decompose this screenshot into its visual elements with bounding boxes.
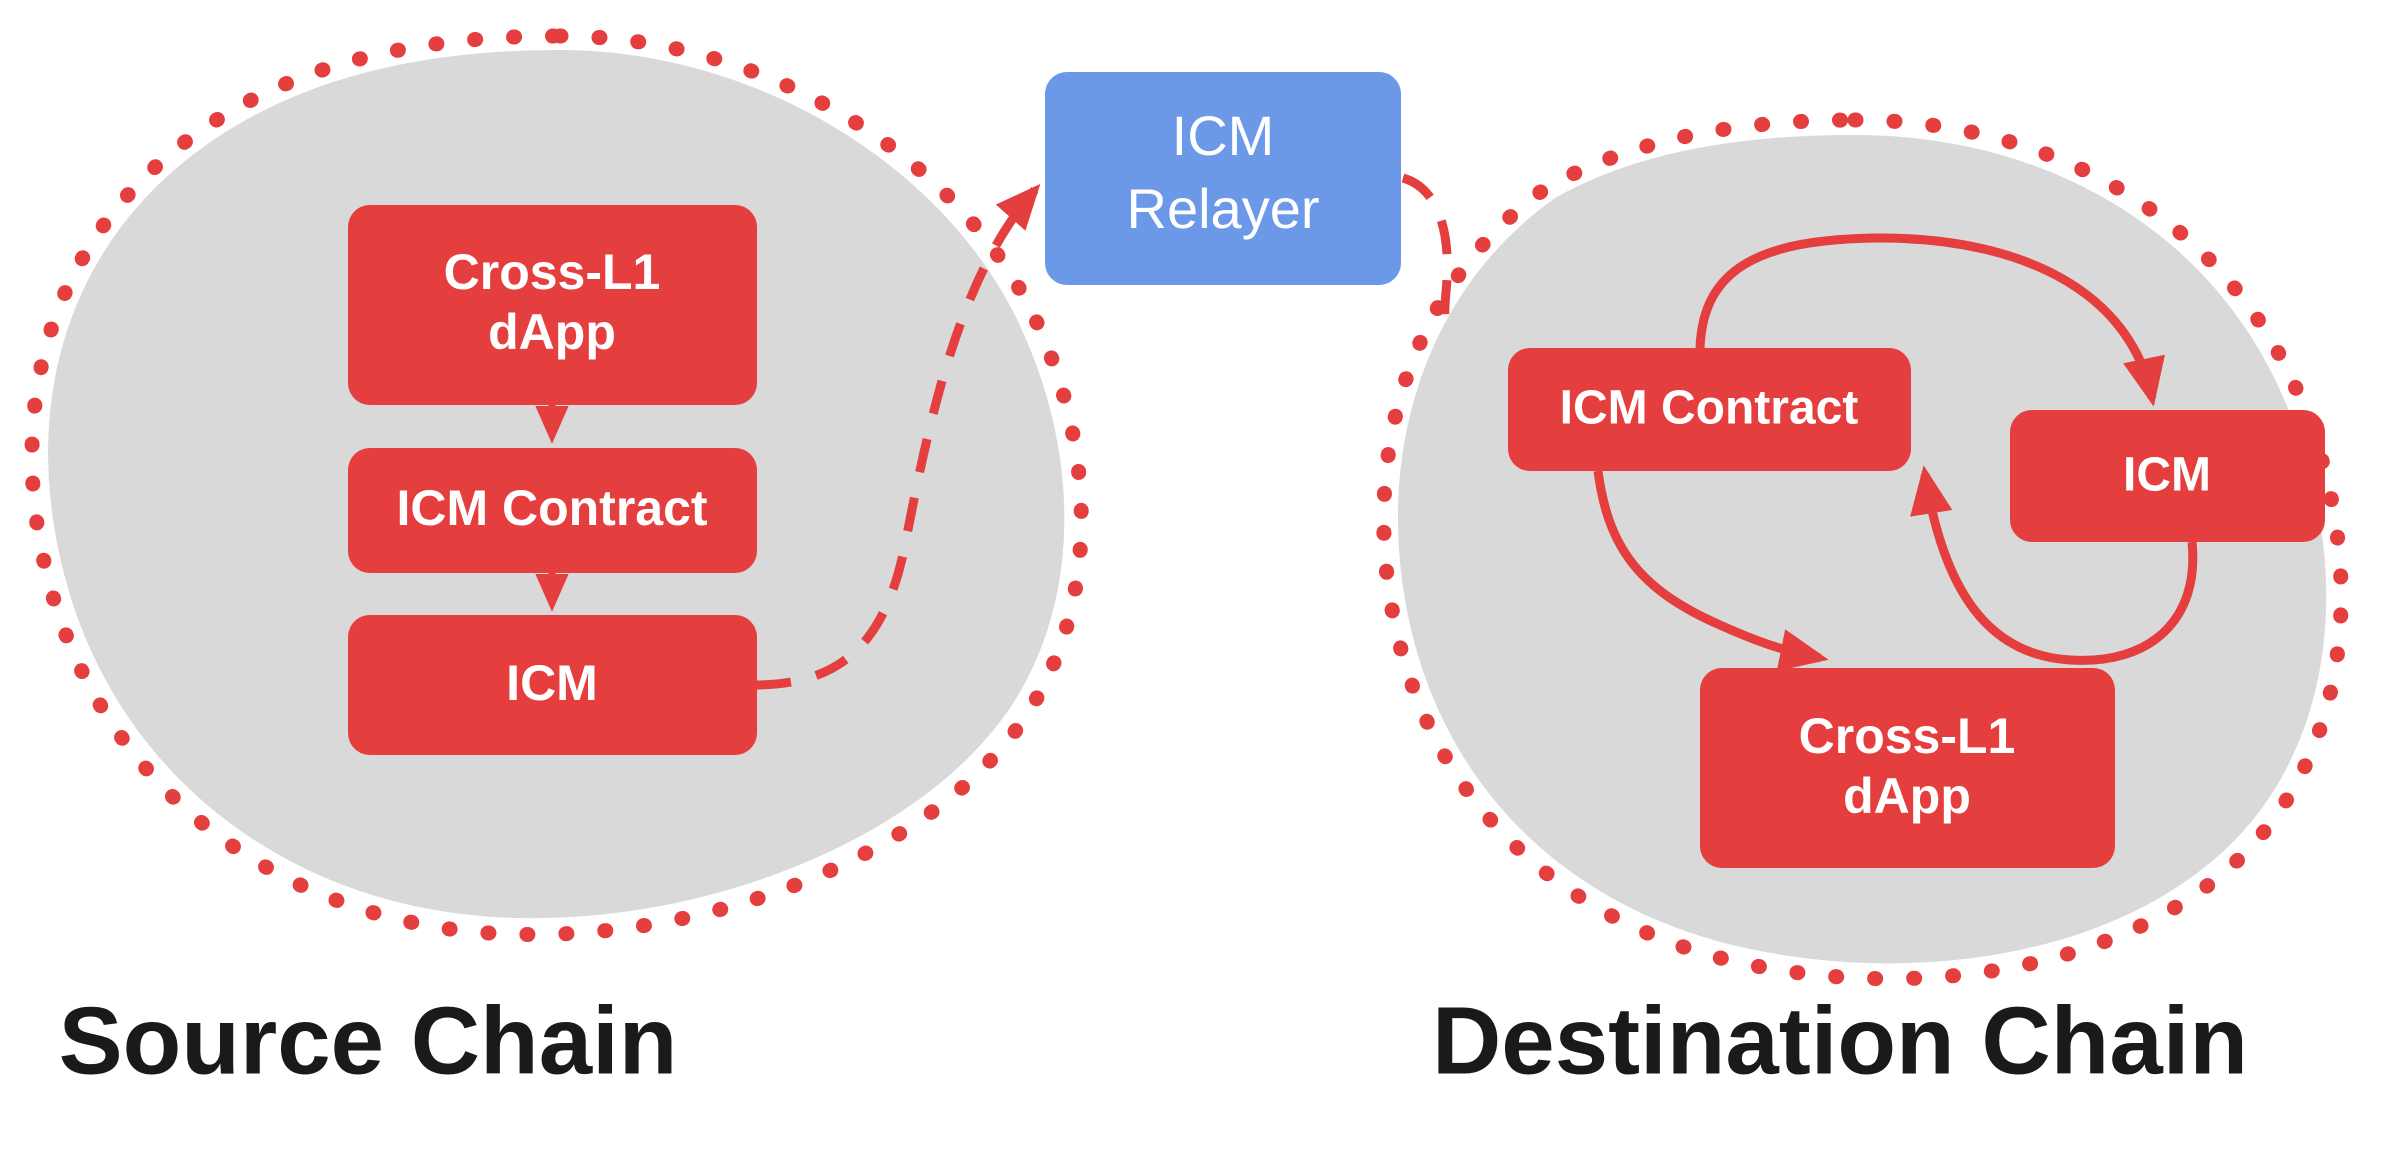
diagram-canvas: Cross-L1 dApp ICM Contract ICM ICM Relay… bbox=[0, 0, 2406, 1160]
icm-relayer-label-line2: Relayer bbox=[1127, 177, 1320, 240]
icm-relayer-node[interactable]: ICM Relayer bbox=[1045, 72, 1401, 285]
icm-relayer-label-line1: ICM bbox=[1172, 104, 1275, 167]
source-cross-l1-dapp-node[interactable]: Cross-L1 dApp bbox=[348, 205, 757, 405]
dest-cross-l1-dapp-label-line2: dApp bbox=[1843, 768, 1971, 824]
dest-icm-node[interactable]: ICM bbox=[2010, 410, 2325, 542]
icm-message-flow-diagram: Cross-L1 dApp ICM Contract ICM ICM Relay… bbox=[0, 0, 2406, 1160]
source-cross-l1-dapp-label-line2: dApp bbox=[488, 304, 616, 360]
dest-cross-l1-dapp-label-line1: Cross-L1 bbox=[1799, 708, 2016, 764]
dest-icm-contract-label: ICM Contract bbox=[1560, 382, 1859, 435]
source-cross-l1-dapp-label-line1: Cross-L1 bbox=[444, 244, 661, 300]
source-icm-node[interactable]: ICM bbox=[348, 615, 757, 755]
destination-chain-caption: Destination Chain bbox=[1432, 987, 2248, 1094]
source-chain-caption: Source Chain bbox=[59, 987, 678, 1094]
dest-icm-contract-node[interactable]: ICM Contract bbox=[1508, 348, 1911, 471]
source-icm-contract-label: ICM Contract bbox=[396, 480, 707, 536]
dest-icm-label: ICM bbox=[2123, 449, 2211, 502]
source-icm-label: ICM bbox=[506, 655, 598, 711]
source-icm-contract-node[interactable]: ICM Contract bbox=[348, 448, 757, 573]
dest-cross-l1-dapp-node[interactable]: Cross-L1 dApp bbox=[1700, 668, 2115, 868]
